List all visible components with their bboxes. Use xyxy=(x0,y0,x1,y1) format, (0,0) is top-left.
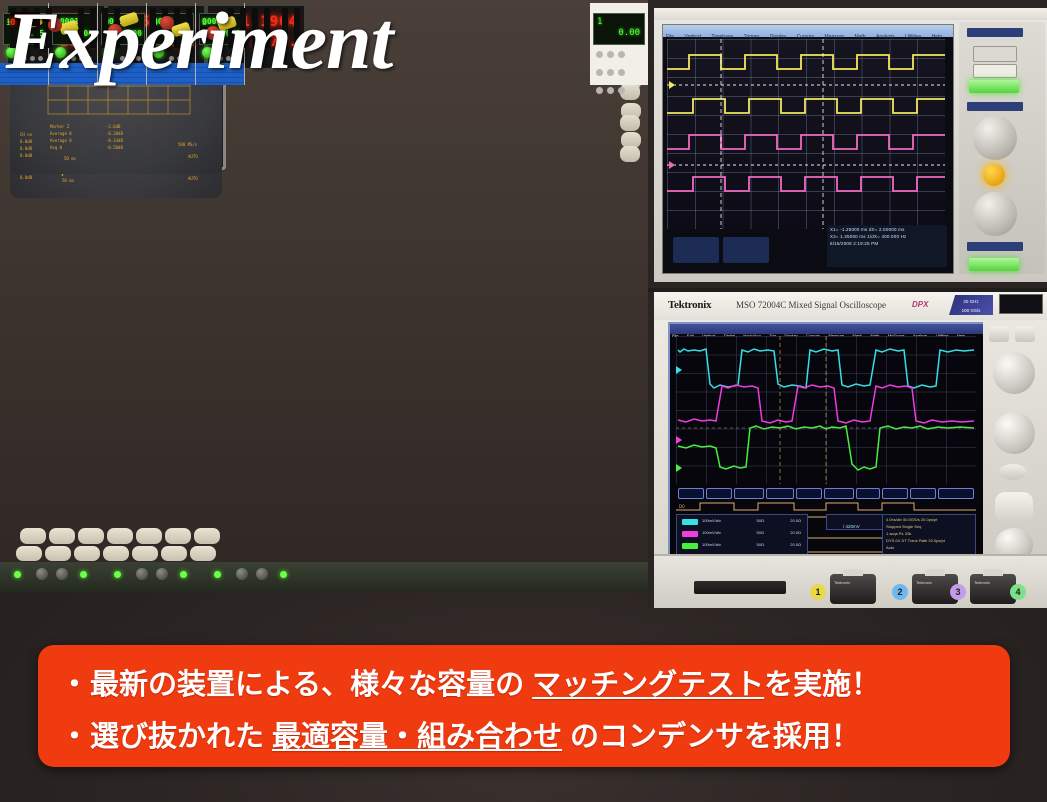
svg-text:-0.50dB: -0.50dB xyxy=(106,145,123,150)
tek-acq-line: 1 acqs RL 20k xyxy=(886,531,973,536)
lecroy-section-divider xyxy=(967,102,1023,111)
lecroy-grid xyxy=(667,39,945,229)
lecroy-oscilloscope-photo: File Vertical Timebase Trigger Display C… xyxy=(648,0,1047,288)
tek-meas-value2: 20.0Ω xyxy=(790,518,801,523)
bullet-marker: ・ xyxy=(60,661,90,703)
lecroy-chassis: File Vertical Timebase Trigger Display C… xyxy=(654,8,1047,282)
svg-text:0.0dB: 0.0dB xyxy=(20,153,33,158)
tek-meas-value2: 20.0Ω xyxy=(790,530,801,535)
lecroy-blue-button[interactable] xyxy=(967,28,1023,37)
tek-measurement-box: 100mV/div 50Ω 20.0Ω 100mV/div 50Ω 20.0Ω xyxy=(676,514,808,556)
lecroy-run-indicator xyxy=(969,258,1019,271)
tek-acq-line: Auto xyxy=(886,545,973,550)
tek-chassis: Tektronix MSO 72004C Mixed Signal Oscill… xyxy=(654,292,1047,608)
svg-text:Avg 0: Avg 0 xyxy=(50,145,63,150)
lecroy-brand-bar xyxy=(654,8,1047,20)
dpx-badge: DPX xyxy=(912,300,928,309)
callout-box: ・最新の装置による、様々な容量のマッチングテストを実施！ ・選び抜かれた最適容量… xyxy=(38,645,1010,767)
tek-vertical-scale-knob[interactable] xyxy=(993,352,1035,394)
svg-text:Marker Z: Marker Z xyxy=(50,124,70,129)
svg-text:50 ms: 50 ms xyxy=(62,178,75,183)
tek-bandwidth: 20 GHz xyxy=(949,299,993,304)
tek-meas-value: 50Ω xyxy=(757,518,764,523)
lecroy-cursor-line: X2= 1.25000 ms 1/dX= 400.000 Hz xyxy=(830,234,944,239)
tektronix-logo: Tektronix xyxy=(668,299,711,311)
tek-trigger-level: / 420mV xyxy=(843,524,860,529)
psu-controller-keypad[interactable]: 1 0.00 xyxy=(590,3,648,85)
probe-number-2: 2 xyxy=(892,584,908,600)
tek-meas-value: 50Ω xyxy=(757,542,764,547)
tek-horizontal-scale-knob[interactable] xyxy=(993,412,1035,454)
tek-autoset-button[interactable] xyxy=(989,326,1009,342)
tek-screen: File Edit Vertical Digital Horiz/Acq Tri… xyxy=(668,322,986,562)
lab-bench-collage-photo: CH11.04 V 9.1 kHzCH1 /1.12 V xyxy=(0,0,648,592)
lecroy-amber-indicator xyxy=(983,164,1005,186)
callout-line-1-emphasis: マッチングテスト xyxy=(532,667,764,701)
tek-meas-label: 100mV/div xyxy=(702,518,721,523)
svg-text:Average 0: Average 0 xyxy=(50,138,72,143)
psu-aux-channel: 1 xyxy=(597,17,602,27)
bullet-marker: ・ xyxy=(60,713,90,755)
svg-text:CH on: CH on xyxy=(20,132,33,137)
probe-connector-3[interactable]: Tektronix xyxy=(970,574,1016,604)
tektronix-oscilloscope-photo: Tektronix MSO 72004C Mixed Signal Oscill… xyxy=(648,292,1047,608)
lecroy-white-button[interactable] xyxy=(973,64,1017,78)
probe-connector-1[interactable]: Tektronix xyxy=(830,574,876,604)
page-title: Experiment xyxy=(6,0,392,88)
tek-meas-value2: 20.0Ω xyxy=(790,542,801,547)
callout-line-1-pre: 最新の装置による、様々な容量の xyxy=(90,667,524,701)
tek-header: Tektronix MSO 72004C Mixed Signal Oscill… xyxy=(654,292,1047,320)
svg-text:0.0dB: 0.0dB xyxy=(20,175,33,180)
svg-text:50 ms: 50 ms xyxy=(64,156,77,161)
svg-text:500 MS/s: 500 MS/s xyxy=(178,142,198,147)
tek-grid xyxy=(676,336,976,484)
svg-text:-2.6dB: -2.6dB xyxy=(106,124,121,129)
callout-line-2-post: のコンデンサを採用！ xyxy=(570,719,860,753)
tek-acq-line: 4.0ns/div 50.0GS/s 20.0ps/pt xyxy=(886,517,973,522)
lecroy-channel1-badge[interactable] xyxy=(673,237,719,263)
tek-analog-waveforms xyxy=(676,336,976,484)
lecroy-timestamp: 6/15/2008 2:19:25 PM xyxy=(830,241,944,246)
tek-digital-bus xyxy=(676,487,976,499)
lecroy-screen: File Vertical Timebase Trigger Display C… xyxy=(662,24,954,274)
scope-a-bottom-buttons[interactable] xyxy=(20,528,238,546)
callout-line-1: ・最新の装置による、様々な容量のマッチングテストを実施！ xyxy=(60,661,1000,703)
lecroy-channel2-badge[interactable] xyxy=(723,237,769,263)
tek-run-stop-button[interactable] xyxy=(995,492,1033,522)
lecroy-menu-bar[interactable]: File Vertical Timebase Trigger Display C… xyxy=(663,25,953,37)
lecroy-green-indicator xyxy=(969,80,1019,93)
lecroy-front-panel[interactable] xyxy=(959,22,1045,274)
tek-small-display xyxy=(999,294,1043,314)
tek-meas-value: 50Ω xyxy=(757,530,764,535)
tek-samplerate: 100 GS/s xyxy=(949,308,993,313)
svg-text:AUTO: AUTO xyxy=(188,154,198,159)
svg-text:AUTO: AUTO xyxy=(188,176,198,181)
tek-menu-bar[interactable]: File Edit Vertical Digital Horiz/Acq Tri… xyxy=(670,324,984,334)
tek-digital-channel-d0: D0 xyxy=(676,500,976,513)
tek-meas-label: 100mV/div xyxy=(702,530,721,535)
svg-text:0.0dB: 0.0dB xyxy=(20,146,33,151)
slide-canvas: CH11.04 V 9.1 kHzCH1 /1.12 V xyxy=(0,0,1047,802)
lecroy-menu-button[interactable] xyxy=(973,46,1017,62)
lecroy-waveforms xyxy=(667,39,945,229)
tek-trigger-button[interactable] xyxy=(999,464,1027,480)
callout-line-2-emphasis: 最適容量・組み合わせ xyxy=(272,719,562,753)
svg-text:0.0dB: 0.0dB xyxy=(20,139,33,144)
tek-acq-line: DYS-04 JIT Trans Rate 20.0ps/pt xyxy=(886,538,973,543)
tek-meas-label: 100mV/div xyxy=(702,542,721,547)
callout-line-2-pre: 選び抜かれた xyxy=(90,719,264,753)
probe-number-1: 1 xyxy=(810,584,826,600)
svg-text:Average 0: Average 0 xyxy=(50,131,72,136)
probe-number-4: 4 xyxy=(1010,584,1026,600)
psu-aux-value: 0.00 xyxy=(618,28,640,38)
tek-disk-slot[interactable] xyxy=(694,581,786,594)
tek-probe-row: 1 Tektronix 2 Tektronix 3 Tektronix 4 xyxy=(654,554,1047,608)
lecroy-lower-knob[interactable] xyxy=(973,192,1017,236)
tek-acq-line: Stopped Single Seq xyxy=(886,524,973,529)
tek-readout-bar: 100mV/div 50Ω 20.0Ω 100mV/div 50Ω 20.0Ω xyxy=(676,514,976,556)
lecroy-adjust-label xyxy=(967,242,1023,251)
lecroy-cursor-line: X1= -1.25000 ms dX= 2.50000 ms xyxy=(830,227,944,232)
tek-model-label: MSO 72004C Mixed Signal Oscilloscope xyxy=(736,300,886,310)
callout-line-1-post: を実施！ xyxy=(764,667,880,701)
tek-front-panel[interactable] xyxy=(983,320,1047,556)
lecroy-upper-knob[interactable] xyxy=(973,116,1017,160)
tek-speed-badge: 20 GHz 100 GS/s xyxy=(949,295,993,315)
svg-text:D0: D0 xyxy=(679,504,685,509)
rack-connector-row xyxy=(0,562,648,592)
svg-text:-0.20dB: -0.20dB xyxy=(106,131,123,136)
probe-number-3: 3 xyxy=(950,584,966,600)
callout-line-2: ・選び抜かれた最適容量・組み合わせのコンデンサを採用！ xyxy=(60,713,1000,755)
tek-default-setup-button[interactable] xyxy=(1015,326,1035,342)
tek-acquisition-box: 4.0ns/div 50.0GS/s 20.0ps/pt Stopped Sin… xyxy=(882,514,976,556)
lecroy-cursor-readout: X1= -1.25000 ms dX= 2.50000 ms X2= 1.250… xyxy=(827,225,947,267)
svg-text:-0.33dB: -0.33dB xyxy=(106,138,123,143)
